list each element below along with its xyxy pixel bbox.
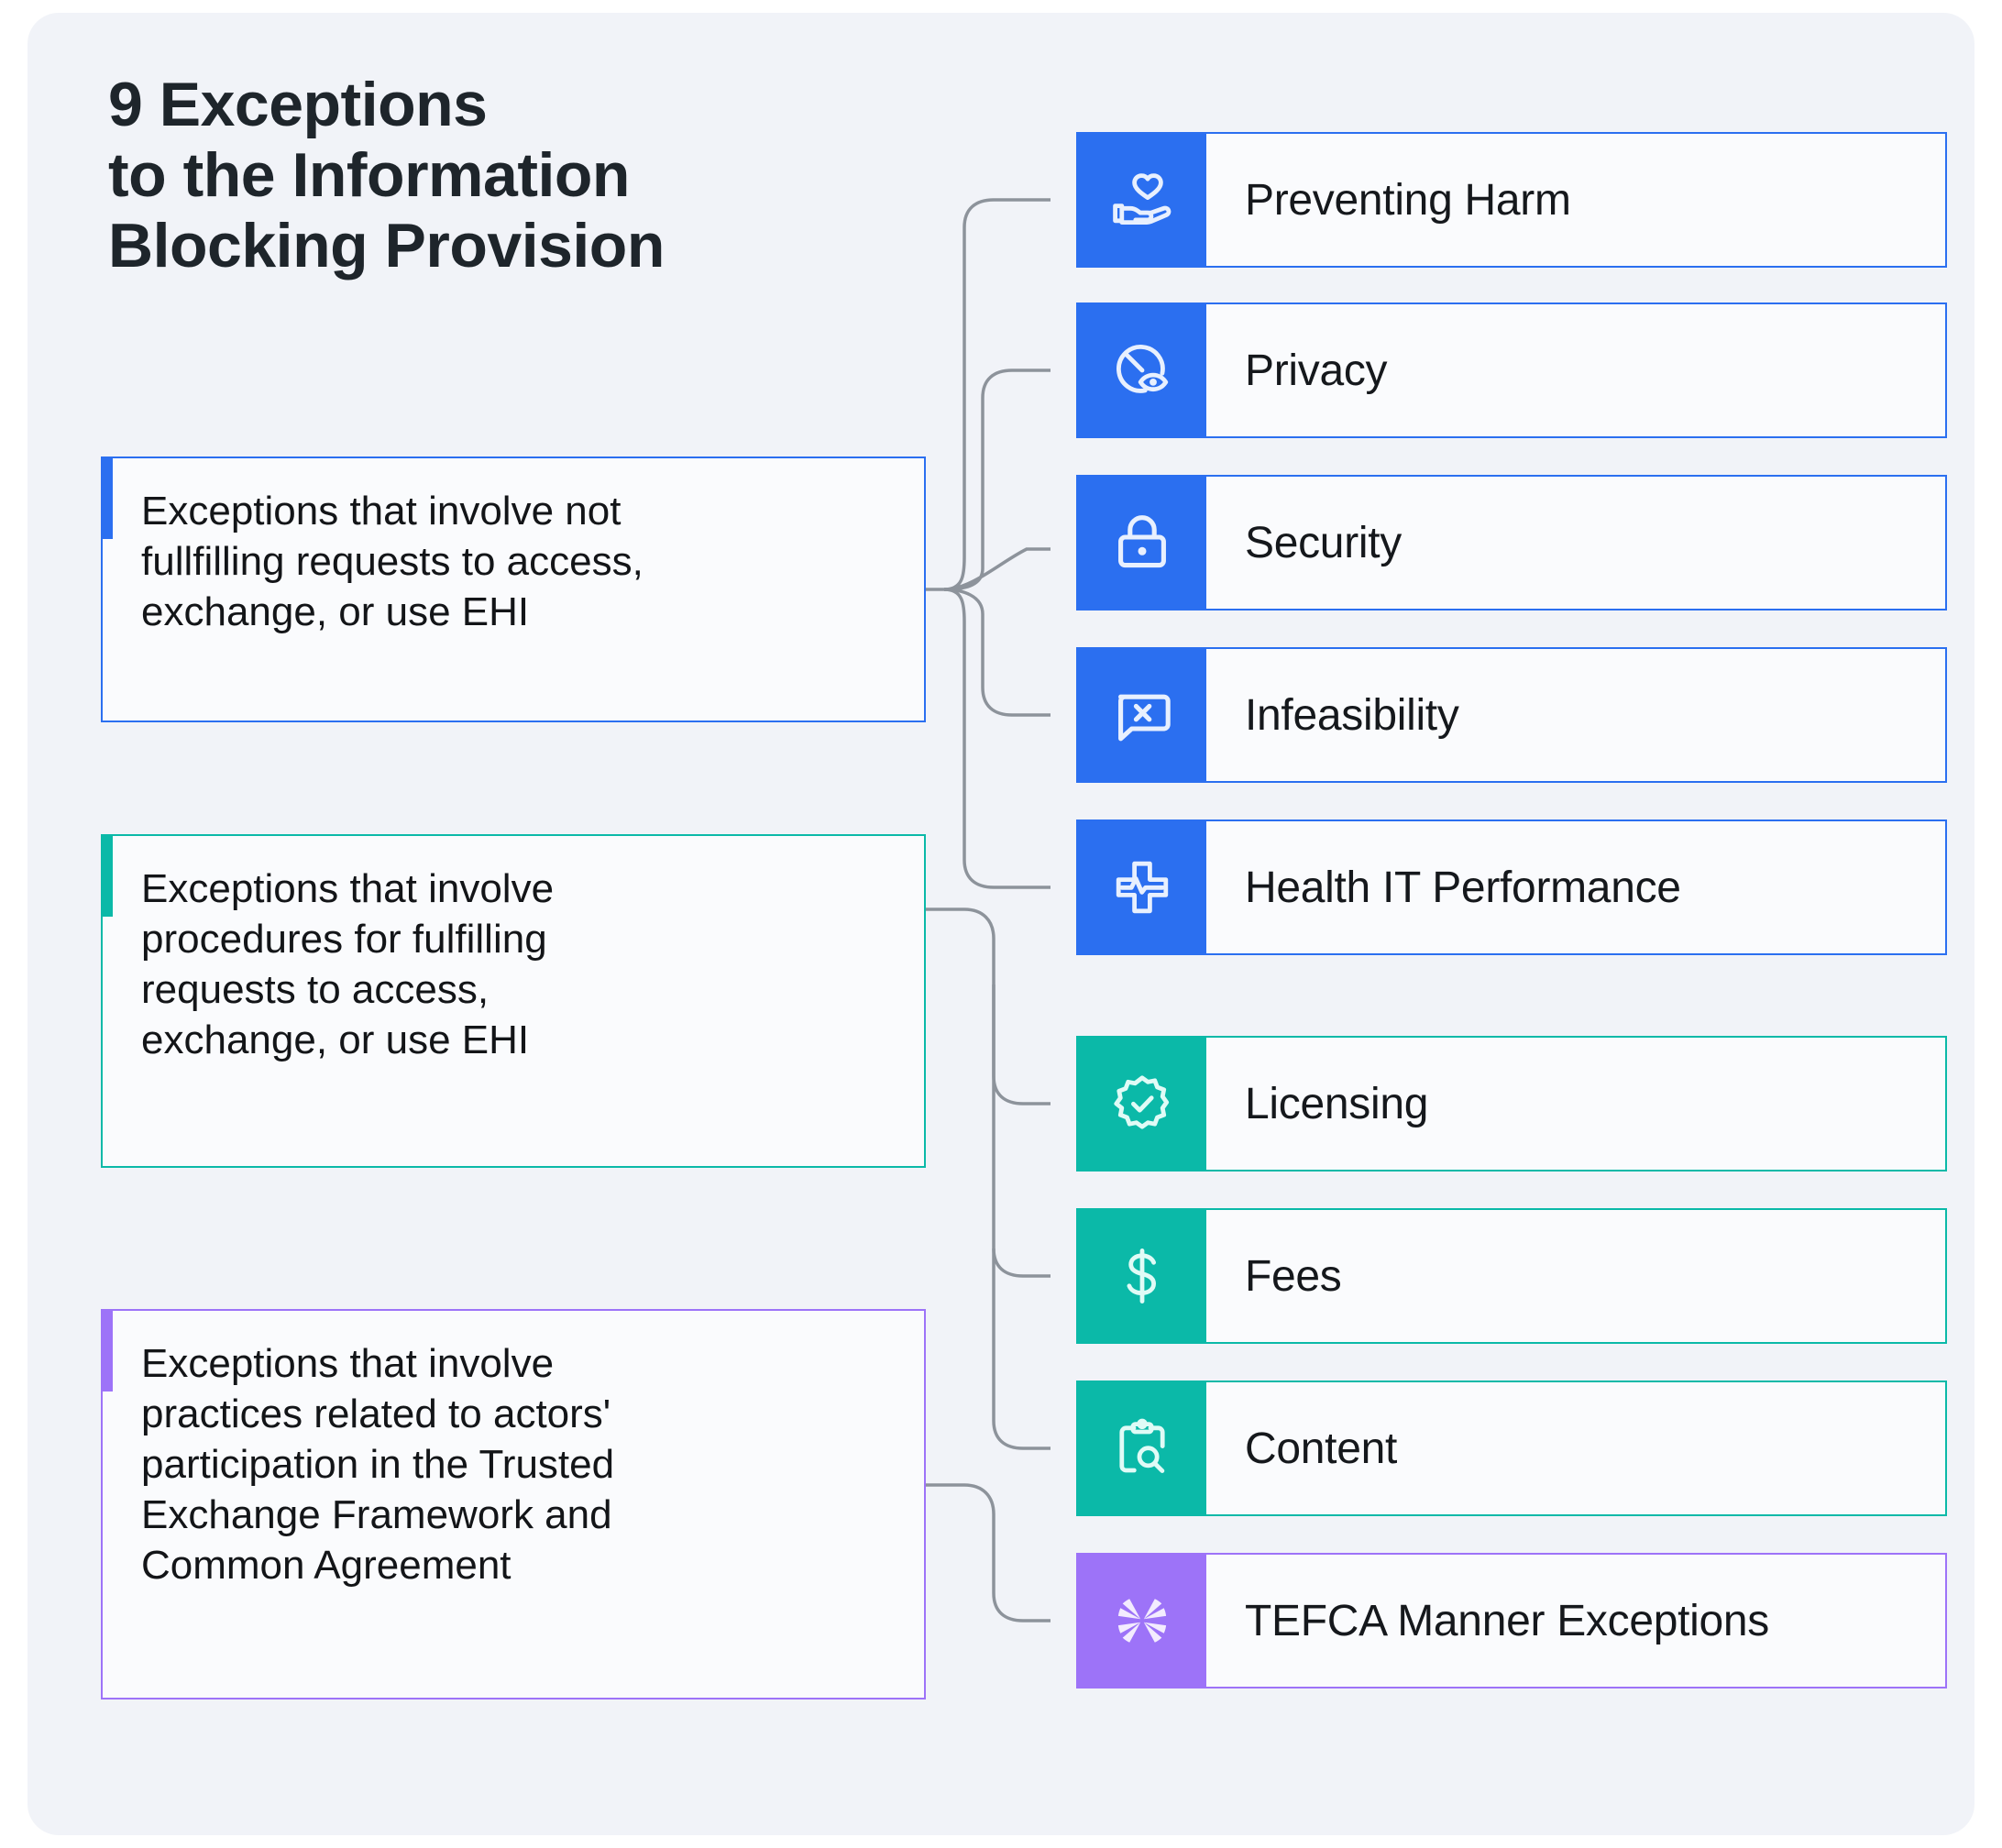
item-label: Health IT Performance bbox=[1206, 821, 1945, 953]
icon-container bbox=[1078, 1555, 1206, 1687]
icon-container bbox=[1078, 821, 1206, 953]
category-label: Exceptions that involve practices relate… bbox=[103, 1311, 636, 1614]
icon-container bbox=[1078, 304, 1206, 436]
item-tefca-manner-exceptions[interactable]: TEFCA Manner Exceptions bbox=[1076, 1553, 1947, 1688]
speech-bubble-x-icon bbox=[1109, 682, 1175, 748]
category-box-tefca[interactable]: Exceptions that involve practices relate… bbox=[101, 1309, 926, 1699]
item-label: Content bbox=[1206, 1382, 1945, 1514]
item-label: Licensing bbox=[1206, 1038, 1945, 1170]
clipboard-search-icon bbox=[1109, 1415, 1175, 1481]
page-title: 9 Exceptions to the Information Blocking… bbox=[108, 70, 933, 280]
item-preventing-harm[interactable]: Preventing Harm bbox=[1076, 132, 1947, 268]
item-content[interactable]: Content bbox=[1076, 1380, 1947, 1516]
item-security[interactable]: Security bbox=[1076, 475, 1947, 610]
item-label: Infeasibility bbox=[1206, 649, 1945, 781]
hand-heart-icon bbox=[1109, 167, 1175, 233]
category-accent-bar bbox=[101, 1309, 113, 1391]
diagram-canvas: 9 Exceptions to the Information Blocking… bbox=[0, 0, 2002, 1848]
icon-container bbox=[1078, 1038, 1206, 1170]
icon-container bbox=[1078, 134, 1206, 266]
category-label: Exceptions that involve not fullfilling … bbox=[103, 458, 665, 661]
item-label: Privacy bbox=[1206, 304, 1945, 436]
category-box-access[interactable]: Exceptions that involve not fullfilling … bbox=[101, 456, 926, 722]
category-label: Exceptions that involve procedures for f… bbox=[103, 836, 576, 1089]
icon-container bbox=[1078, 1382, 1206, 1514]
icon-container bbox=[1078, 477, 1206, 609]
item-privacy[interactable]: Privacy bbox=[1076, 302, 1947, 438]
dollar-sign-icon bbox=[1109, 1243, 1175, 1309]
lock-icon bbox=[1109, 510, 1175, 576]
diagram-card: 9 Exceptions to the Information Blocking… bbox=[27, 13, 1974, 1835]
icon-container bbox=[1078, 649, 1206, 781]
icon-container bbox=[1078, 1210, 1206, 1342]
item-health-it-performance[interactable]: Health IT Performance bbox=[1076, 819, 1947, 955]
pinwheel-flower-icon bbox=[1109, 1588, 1175, 1654]
category-accent-bar bbox=[101, 834, 113, 917]
item-label: Fees bbox=[1206, 1210, 1945, 1342]
category-box-procedures[interactable]: Exceptions that involve procedures for f… bbox=[101, 834, 926, 1168]
badge-check-icon bbox=[1109, 1071, 1175, 1137]
medical-cross-pulse-icon bbox=[1109, 854, 1175, 920]
item-fees[interactable]: Fees bbox=[1076, 1208, 1947, 1344]
item-label: Preventing Harm bbox=[1206, 134, 1945, 266]
eye-privacy-icon bbox=[1109, 337, 1175, 403]
item-label: TEFCA Manner Exceptions bbox=[1206, 1555, 1945, 1687]
item-infeasibility[interactable]: Infeasibility bbox=[1076, 647, 1947, 783]
item-label: Security bbox=[1206, 477, 1945, 609]
category-accent-bar bbox=[101, 456, 113, 539]
item-licensing[interactable]: Licensing bbox=[1076, 1036, 1947, 1171]
